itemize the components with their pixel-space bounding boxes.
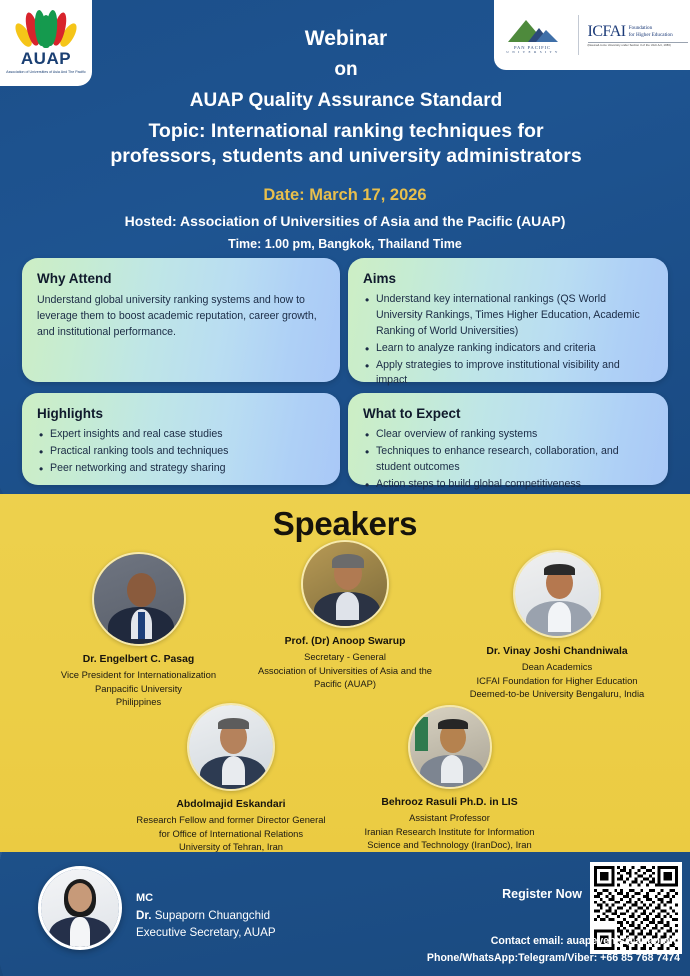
contact-phone: Phone/WhatsApp:Telegram/Viber: +66 85 76… bbox=[427, 950, 680, 967]
speaker-avatar bbox=[301, 540, 389, 628]
mc-label: MC bbox=[136, 890, 276, 907]
list-item: Apply strategies to improve institutiona… bbox=[363, 358, 653, 390]
event-date: Date: March 17, 2026 bbox=[20, 186, 670, 205]
speaker-avatar bbox=[408, 705, 492, 789]
title-block: Webinar on AUAP Quality Assurance Standa… bbox=[96, 26, 596, 169]
list-item: Action steps to build global competitive… bbox=[363, 477, 653, 493]
speaker-card: Dr. Engelbert C. Pasag Vice President fo… bbox=[46, 552, 231, 708]
card-aims: Aims Understand key international rankin… bbox=[348, 258, 668, 382]
speaker-role: Research Fellow and former Director Gene… bbox=[123, 813, 339, 853]
webinar-poster: AUAP Association of Universities of Asia… bbox=[0, 0, 690, 976]
speaker-card: Prof. (Dr) Anoop Swarup Secretary - Gene… bbox=[255, 540, 435, 690]
event-host: Hosted: Association of Universities of A… bbox=[20, 213, 670, 229]
speaker-card: Abdolmajid Eskandari Research Fellow and… bbox=[123, 703, 339, 853]
event-time: Time: 1.00 pm, Bangkok, Thailand Time bbox=[20, 237, 670, 251]
mc-name-text: Supaporn Chuangchid bbox=[151, 909, 270, 922]
speaker-role: Secretary - GeneralAssociation of Univer… bbox=[255, 650, 435, 690]
card-highlights-list: Expert insights and real case studiesPra… bbox=[37, 427, 325, 477]
auap-logo: AUAP Association of Universities of Asia… bbox=[0, 0, 92, 86]
contact-email: Contact email: auapevents@auap.org bbox=[427, 933, 680, 950]
mc-info: MC Dr. Supaporn Chuangchid Executive Sec… bbox=[136, 890, 276, 942]
speaker-role: Assistant ProfessorIranian Research Inst… bbox=[348, 811, 551, 851]
card-what-to-expect-heading: What to Expect bbox=[363, 406, 653, 421]
speaker-name: Dr. Vinay Joshi Chandniwala bbox=[457, 645, 657, 659]
title-topic: Topic: International ranking techniques … bbox=[96, 119, 596, 170]
speaker-avatar bbox=[187, 703, 275, 791]
card-aims-heading: Aims bbox=[363, 271, 653, 286]
speaker-card: Behrooz Rasuli Ph.D. in LIS Assistant Pr… bbox=[348, 705, 551, 851]
speaker-name: Abdolmajid Eskandari bbox=[123, 798, 339, 812]
speaker-avatar bbox=[513, 550, 601, 638]
mc-role: Executive Secretary, AUAP bbox=[136, 924, 276, 942]
speaker-card: Dr. Vinay Joshi Chandniwala Dean Academi… bbox=[457, 550, 657, 700]
list-item: Peer networking and strategy sharing bbox=[37, 461, 325, 477]
card-what-to-expect: What to Expect Clear overview of ranking… bbox=[348, 393, 668, 485]
card-why-attend-heading: Why Attend bbox=[37, 271, 325, 286]
list-item: Understand key international rankings (Q… bbox=[363, 292, 653, 340]
auap-wordmark: AUAP bbox=[21, 49, 71, 69]
card-why-attend: Why Attend Understand global university … bbox=[22, 258, 340, 382]
speakers-heading: Speakers bbox=[0, 505, 690, 543]
card-highlights: Highlights Expert insights and real case… bbox=[22, 393, 340, 485]
title-webinar: Webinar bbox=[96, 26, 596, 53]
icfai-fine-print: (Deemed-to-be University under Section 3… bbox=[588, 42, 688, 47]
mc-name: Dr. Supaporn Chuangchid bbox=[136, 907, 276, 925]
speaker-name: Dr. Engelbert C. Pasag bbox=[46, 653, 231, 667]
speaker-name: Behrooz Rasuli Ph.D. in LIS bbox=[348, 796, 551, 810]
list-item: Learn to analyze ranking indicators and … bbox=[363, 341, 653, 357]
card-why-attend-body: Understand global university ranking sys… bbox=[37, 292, 325, 340]
mc-name-prefix: Dr. bbox=[136, 909, 151, 922]
icfai-logo: ICFAI Foundation for Higher Education (D… bbox=[588, 23, 688, 47]
speaker-name: Prof. (Dr) Anoop Swarup bbox=[255, 635, 435, 649]
icfai-line1: Foundation bbox=[629, 25, 673, 32]
auap-tagline: Association of Universities of Asia And … bbox=[6, 70, 86, 75]
mc-avatar bbox=[38, 866, 122, 950]
card-aims-list: Understand key international rankings (Q… bbox=[363, 292, 653, 389]
list-item: Expert insights and real case studies bbox=[37, 427, 325, 443]
card-what-to-expect-list: Clear overview of ranking systemsTechniq… bbox=[363, 427, 653, 493]
list-item: Techniques to enhance research, collabor… bbox=[363, 444, 653, 476]
title-on: on bbox=[96, 58, 596, 82]
register-now-label: Register Now bbox=[502, 887, 582, 901]
title-standard: AUAP Quality Assurance Standard bbox=[96, 89, 596, 113]
list-item: Practical ranking tools and techniques bbox=[37, 444, 325, 460]
list-item: Clear overview of ranking systems bbox=[363, 427, 653, 443]
event-meta: Date: March 17, 2026 Hosted: Association… bbox=[20, 186, 670, 251]
speaker-avatar bbox=[92, 552, 186, 646]
contact-info: Contact email: auapevents@auap.org Phone… bbox=[427, 933, 680, 967]
card-highlights-heading: Highlights bbox=[37, 406, 325, 421]
auap-flower-icon bbox=[17, 10, 75, 48]
icfai-line2: for Higher Education bbox=[629, 32, 673, 39]
speaker-role: Dean AcademicsICFAI Foundation for Highe… bbox=[457, 660, 657, 700]
